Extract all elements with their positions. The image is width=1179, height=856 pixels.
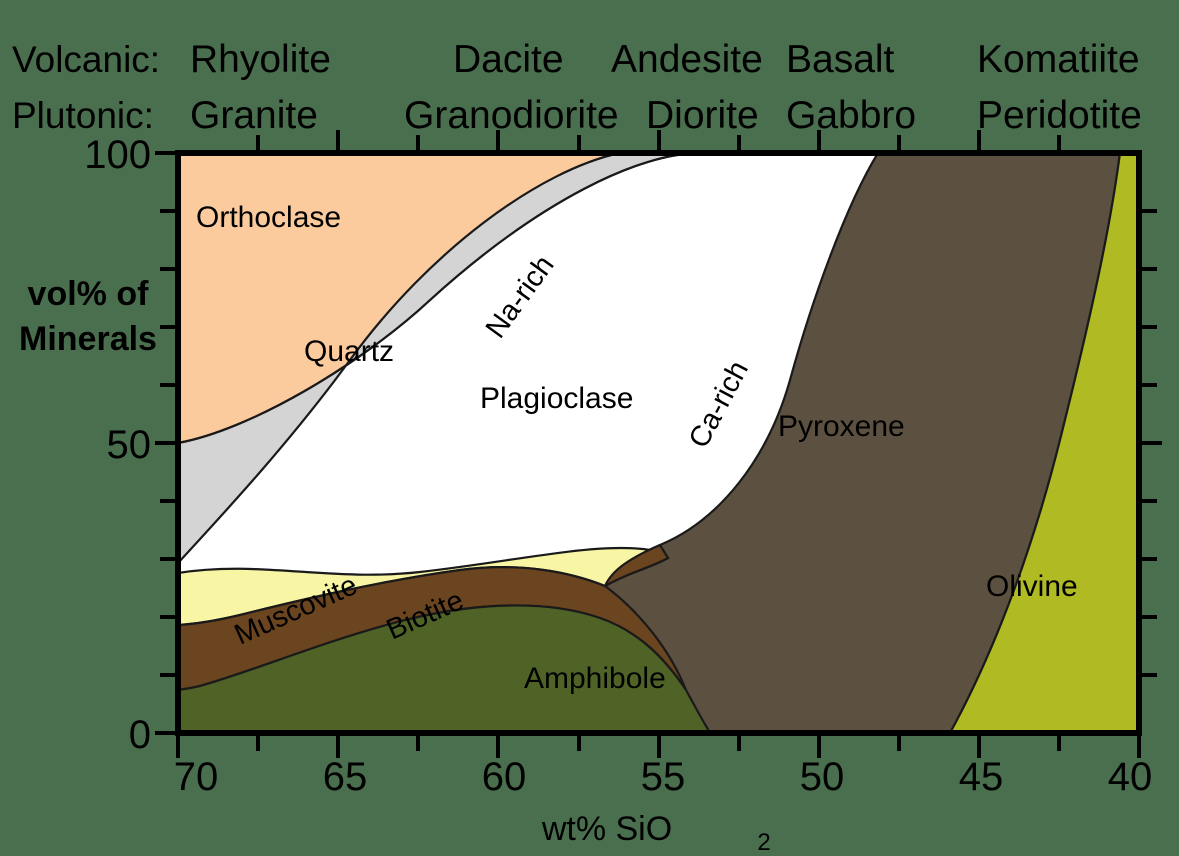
plutonic-row-key: Plutonic: — [12, 95, 154, 136]
x-tick-label-60: 60 — [482, 755, 527, 799]
x-tick-label-40: 40 — [1108, 755, 1153, 799]
plutonic-rock-gabbro: Gabbro — [786, 94, 916, 137]
label-pyroxene: Pyroxene — [778, 410, 905, 443]
label-plagioclase: Plagioclase — [480, 382, 633, 415]
volcanic-rock-rhyolite: Rhyolite — [190, 38, 331, 81]
igneous-rock-composition-chart: Volcanic: Plutonic: Rhyolite Dacite Ande… — [0, 0, 1179, 856]
volcanic-rock-basalt: Basalt — [786, 38, 895, 81]
label-quartz: Quartz — [304, 335, 394, 368]
x-axis-title-main: wt% SiO — [541, 810, 672, 848]
plutonic-rock-granite: Granite — [190, 94, 318, 137]
y-tick-label-50: 50 — [107, 423, 152, 467]
volcanic-row-key: Volcanic: — [12, 39, 160, 80]
x-tick-label-50: 50 — [800, 755, 845, 799]
plutonic-rock-granodiorite: Granodiorite — [404, 94, 619, 137]
y-axis-title-line2: Minerals — [19, 320, 157, 358]
plot-area — [178, 153, 1139, 733]
volcanic-rock-komatiite: Komatiite — [977, 38, 1140, 81]
y-tick-label-0: 0 — [129, 713, 151, 757]
x-tick-label-55: 55 — [641, 755, 686, 799]
label-amphibole: Amphibole — [524, 662, 666, 695]
volcanic-rock-dacite: Dacite — [453, 38, 564, 81]
x-tick-label-45: 45 — [959, 755, 1004, 799]
label-olivine: Olivine — [986, 570, 1078, 603]
y-tick-label-100: 100 — [84, 133, 151, 177]
label-orthoclase: Orthoclase — [196, 201, 341, 234]
y-axis-title-line1: vol% of — [28, 275, 150, 313]
plutonic-rock-peridotite: Peridotite — [977, 94, 1142, 137]
x-axis-title-subscript: 2 — [757, 829, 770, 856]
figure-root: Volcanic: Plutonic: Rhyolite Dacite Ande… — [0, 0, 1179, 856]
x-tick-label-70: 70 — [174, 755, 219, 799]
volcanic-rock-andesite: Andesite — [611, 38, 763, 81]
x-tick-label-65: 65 — [323, 755, 368, 799]
plutonic-rock-diorite: Diorite — [646, 94, 759, 137]
